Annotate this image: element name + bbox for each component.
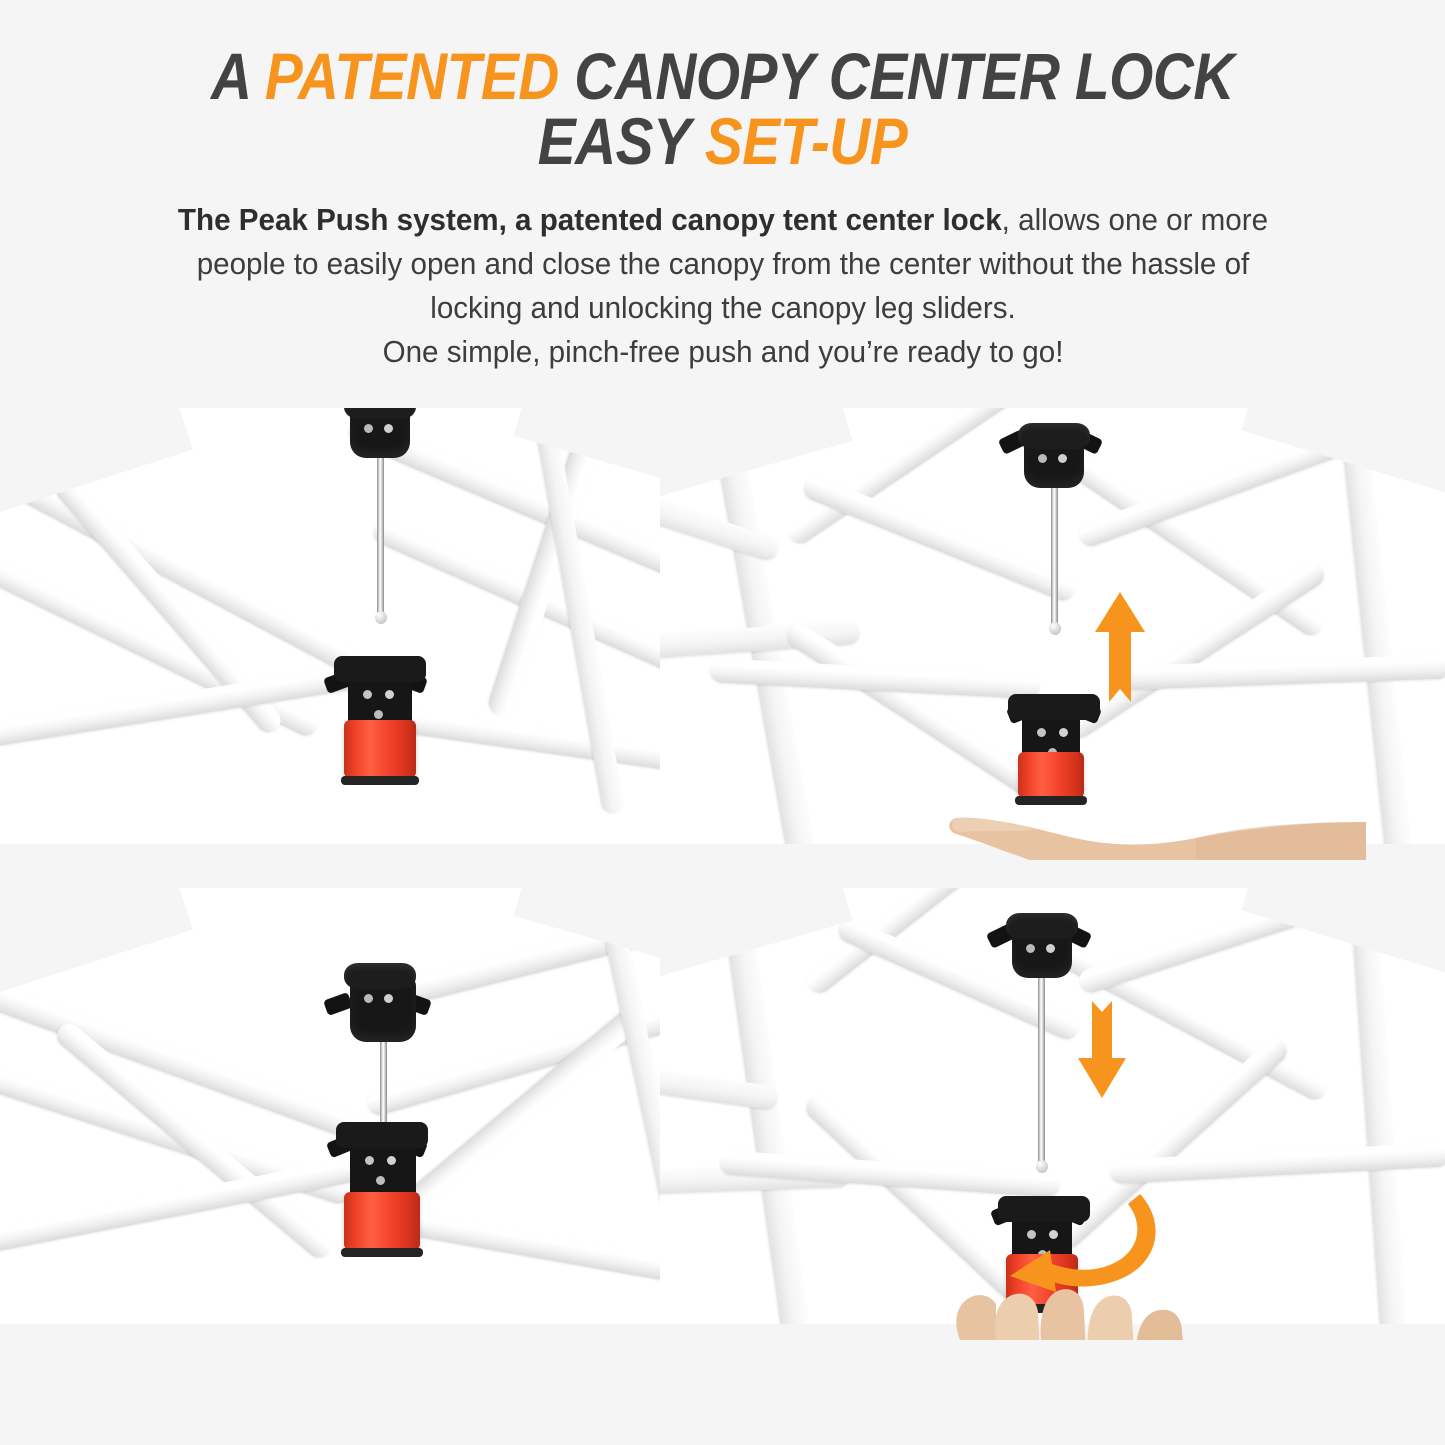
headline-line-1: A PATENTED CANOPY CENTER LOCK <box>153 44 1293 109</box>
headline-word-patented: PATENTED <box>265 39 559 113</box>
frame-leg-tube <box>1347 888 1408 1340</box>
frame-leg-tube <box>716 888 813 1340</box>
center-push-rod <box>1051 486 1058 628</box>
top-hub <box>350 408 410 458</box>
frame-tube <box>1076 889 1340 995</box>
rod-tip <box>1036 1160 1048 1173</box>
headline-word-canopy-center-lock: CANOPY CENTER LOCK <box>559 39 1234 113</box>
hub-ear <box>323 992 353 1016</box>
description-line-2: people to easily open and close the cano… <box>196 247 1249 281</box>
frame-tube <box>368 704 706 783</box>
center-push-rod <box>1038 976 1045 1166</box>
description-rest-line-1: , allows one or more <box>1001 203 1267 237</box>
red-center-lock[interactable] <box>344 1192 420 1250</box>
photo-panel-grid <box>0 400 1445 1445</box>
rod-tip <box>375 611 387 624</box>
panel-bottom-mask <box>0 844 706 860</box>
description-line-4: One simple, pinch-free push and you’re r… <box>382 335 1063 369</box>
red-center-lock[interactable] <box>344 720 416 778</box>
rod-tip <box>1049 622 1061 635</box>
hand-supporting-lock <box>946 780 1366 860</box>
frame-tube <box>378 1206 706 1299</box>
frame-tube <box>801 473 1079 604</box>
hands-gripping-lock <box>936 1256 1216 1340</box>
panel-locked[interactable] <box>0 888 706 1340</box>
description-bold-lead: The Peak Push system, a patented canopy … <box>177 203 1001 237</box>
panel-open-position[interactable] <box>0 408 706 860</box>
headline-word-a: A <box>211 39 265 113</box>
description-paragraph: The Peak Push system, a patented canopy … <box>97 199 1348 375</box>
description-line-3: locking and unlocking the canopy leg sli… <box>430 291 1016 325</box>
center-push-rod <box>377 446 384 618</box>
arrow-down-icon <box>1078 998 1126 1098</box>
lower-hub <box>350 1136 416 1198</box>
arrow-up-icon <box>1095 592 1145 702</box>
frame-tube <box>0 432 361 676</box>
frame-tube <box>0 961 376 1146</box>
headline-word-easy: EASY <box>538 104 705 178</box>
headline-block: A PATENTED CANOPY CENTER LOCK EASY SET-U… <box>0 0 1445 173</box>
panel-bottom-mask <box>0 1324 706 1340</box>
panel-push-up[interactable] <box>660 408 1445 860</box>
frame-tube <box>803 888 1046 997</box>
headline-word-setup: SET-UP <box>705 104 907 178</box>
top-hub <box>350 976 416 1042</box>
headline-line-2: EASY SET-UP <box>153 109 1293 174</box>
top-hub <box>1012 926 1072 978</box>
panel-pull-down-twist[interactable] <box>660 888 1445 1340</box>
top-hub <box>1024 436 1084 488</box>
